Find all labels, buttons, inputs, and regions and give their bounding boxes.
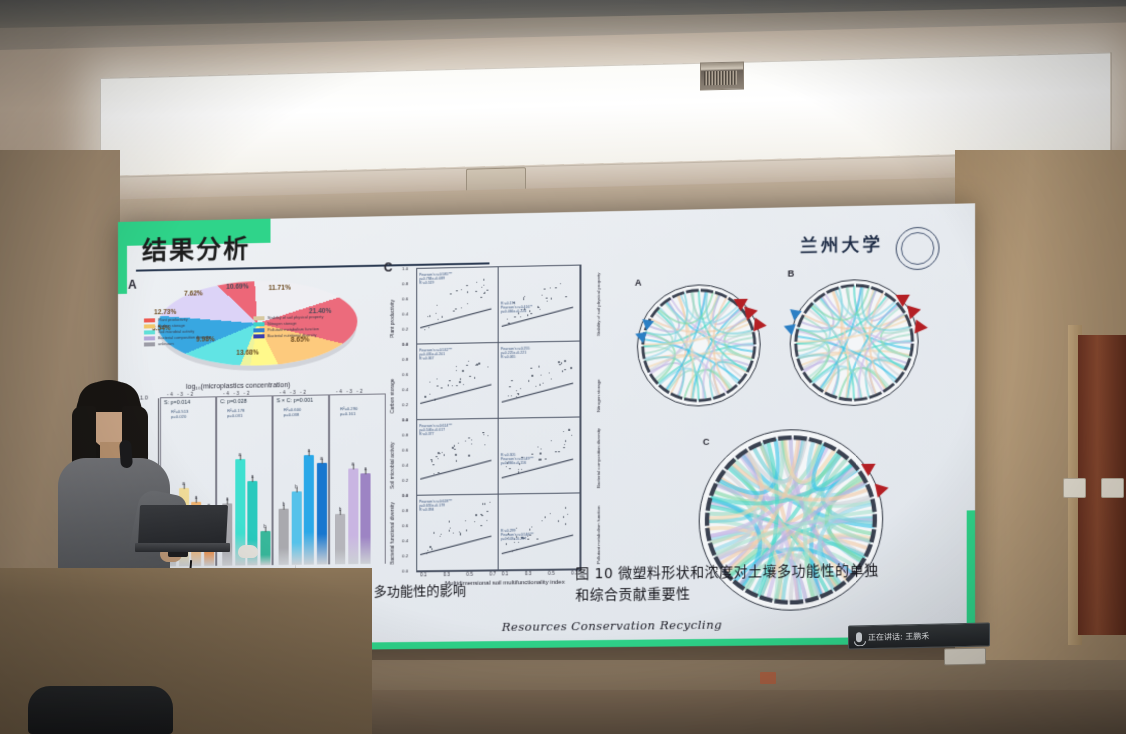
scatter-row-label-right: Bacterial composition diversity (596, 428, 601, 488)
scatter-point (530, 368, 531, 369)
significance-letter: b (339, 506, 342, 511)
scatter-point (571, 435, 572, 436)
scatter-x-tick: 0.3 (525, 571, 532, 576)
legend-item: Bacterial nutritional diversity (253, 332, 357, 340)
scatter-point (548, 372, 549, 373)
scatter-point (437, 385, 438, 386)
scatter-annotation: R²=0.305Pearson's r=0.549***y=0.866x+0.1… (501, 452, 534, 465)
scatter-point (469, 455, 470, 456)
scatter-point (540, 448, 541, 449)
scatter-point (455, 454, 456, 455)
scatter-point (509, 386, 510, 387)
scatter-point (538, 366, 539, 367)
chord-letter-a: A (635, 278, 642, 288)
scatter-point (456, 290, 457, 291)
scatter-point (466, 285, 467, 286)
scatter-point (437, 319, 438, 320)
scatter-y-tick: 0.6 (402, 447, 408, 452)
scatter-point (510, 395, 511, 396)
slide-accent-bar (118, 222, 127, 294)
scatter-point (454, 449, 455, 450)
scatter-point (467, 291, 468, 292)
scatter-point (431, 460, 432, 461)
bar-group: S × C: p=0.001R²=0.600p=0.038bbaa (273, 394, 330, 565)
scatter-point (557, 520, 558, 521)
speaking-status-bar: 正在讲话: 王鹏禾 (848, 623, 990, 650)
significance-letter: a (352, 461, 355, 466)
scatter-point (528, 380, 529, 381)
bar-group-stats: R²=0.178p=0.031 (227, 408, 244, 418)
scatter-point (436, 378, 437, 379)
scatter-y-tick: 0.2 (402, 477, 408, 482)
scatter-cell: Pearson's r=0.628***y=0.655x+0.179R²=0.3… (416, 494, 498, 572)
bar-chart-title: log₁₀(microplastics concentration) (186, 382, 290, 391)
bar-group-stats: R²=0.600p=0.038 (284, 407, 301, 417)
scatter-matrix: Multidimensional soil multifunctionality… (384, 252, 610, 609)
regression-line (502, 382, 574, 402)
scatter-y-tick: 0.8 (402, 432, 408, 437)
chord-letter-c: C (703, 437, 710, 447)
laptop-keyboard[interactable] (135, 543, 230, 552)
presentation-photo: 结果分析 A 11.71%21.40%8.65%13.68%9.98%3.54%… (0, 0, 1126, 734)
scatter-y-tick: 0.0 (402, 568, 408, 573)
scatter-point (565, 369, 566, 370)
scatter-point (518, 541, 519, 542)
scatter-point (466, 530, 467, 531)
scatter-point (551, 298, 552, 299)
scatter-y-tick: 1.0 (402, 341, 408, 346)
scatter-point (429, 394, 430, 395)
scatter-point (460, 378, 461, 379)
scatter-point (544, 516, 545, 517)
university-seal-icon (896, 227, 940, 271)
scatter-point (535, 386, 536, 387)
scatter-point (442, 316, 443, 317)
scatter-point (487, 289, 488, 290)
significance-letter: a (320, 456, 323, 461)
regression-line (420, 535, 491, 554)
legend-swatch (253, 328, 264, 333)
bar: a (348, 468, 358, 564)
scatter-row-label-left: Carbon storage (390, 379, 396, 414)
scatter-point (507, 395, 508, 396)
scatter-row-label-right: Pollutant metabolism function (596, 506, 601, 564)
chair (28, 686, 173, 734)
scatter-point (544, 288, 545, 289)
scatter-y-tick: 0.8 (402, 507, 408, 512)
scatter-point (436, 313, 437, 314)
pie-legend: Plant productivityStability of soil phys… (144, 313, 357, 347)
significance-letter: b (264, 524, 267, 529)
scatter-point (448, 384, 449, 385)
journal-name: Resources Conservation Recycling (502, 617, 722, 634)
scatter-point (565, 360, 566, 361)
scatter-point (509, 468, 510, 469)
legend-swatch (144, 342, 155, 347)
scatter-point (487, 511, 488, 512)
pie-slice-label: 12.73% (154, 309, 176, 316)
scatter-point (537, 306, 538, 307)
wall-outlet-1[interactable] (1063, 478, 1086, 498)
bar-group: R²=0.290p=0.161baa (329, 393, 386, 564)
scatter-point (462, 370, 463, 371)
scatter-cell: R²=0.299Pearson's r=0.546***y=0.543x+0.2… (498, 492, 581, 570)
scatter-point (425, 396, 426, 397)
scatter-y-tick: 1.0 (402, 417, 408, 422)
significance-letter: a (251, 474, 254, 479)
scatter-point (545, 458, 546, 459)
scatter-point (439, 453, 440, 454)
scatter-cell: R²=0.171Pearson's r=0.416**y=0.466x+0.22… (498, 265, 581, 343)
scatter-y-tick: 0.4 (402, 462, 408, 467)
caption-line-1: 图 10 微塑料形状和浓度对土壤多功能性的单独 (575, 561, 878, 586)
scatter-point (568, 429, 569, 430)
scatter-y-tick: 0.2 (402, 326, 408, 331)
legend-swatch (253, 316, 264, 321)
scatter-cell: Pearson's r=0.532***y=0.435x+0.201R²=0.3… (416, 342, 498, 420)
microphone-icon (856, 632, 862, 642)
bar-group-header: S × C: p=0.001 (277, 398, 314, 405)
scatter-row-label-left: Plant productivity (390, 299, 396, 337)
legend-swatch (144, 324, 155, 329)
bar-x-tick: -4 -3 -2 (223, 391, 251, 396)
scatter-point (540, 453, 541, 454)
bar: a (316, 463, 326, 564)
scatter-point (518, 394, 519, 395)
scatter-point (457, 385, 458, 386)
scatter-point (520, 316, 521, 317)
scatter-y-tick: 0.2 (402, 402, 408, 407)
scatter-point (427, 316, 428, 317)
scatter-point (567, 513, 568, 514)
scatter-point (477, 364, 478, 365)
scatter-x-tick: 0.3 (443, 572, 450, 577)
pie-slice-label: 11.71% (269, 285, 291, 292)
scatter-point (461, 289, 462, 290)
chord-c (699, 428, 883, 612)
scatter-point (565, 296, 566, 297)
scatter-y-tick: 0.6 (402, 523, 408, 528)
significance-letter: b (295, 485, 298, 490)
pie-slice-label: 10.69% (226, 283, 249, 290)
scatter-point (476, 282, 477, 283)
scatter-point (487, 366, 488, 367)
scatter-y-tick: 1.0 (402, 266, 408, 271)
scatter-point (565, 523, 566, 524)
scatter-point (486, 520, 487, 521)
scatter-point (459, 381, 460, 382)
scatter-point (489, 501, 490, 502)
bar: a (304, 455, 314, 565)
scatter-y-tick: 0.4 (402, 538, 408, 543)
scatter-point (558, 451, 559, 452)
scatter-cell: R²=0.305Pearson's r=0.549***y=0.866x+0.1… (498, 416, 581, 494)
legend-swatch (144, 336, 155, 341)
scatter-point (450, 293, 451, 294)
scatter-point (452, 385, 453, 386)
scatter-point (564, 444, 565, 445)
scatter-point (471, 439, 472, 440)
scatter-x-tick: 0.7 (489, 571, 496, 576)
scatter-point (481, 525, 482, 526)
scatter-point (437, 458, 438, 459)
scatter-point (558, 362, 559, 363)
ceiling-vent-grille (704, 71, 737, 86)
scatter-point (468, 361, 469, 362)
scatter-point (506, 543, 507, 544)
scatter-point (482, 515, 483, 516)
legend-swatch (144, 318, 155, 323)
legend-label: Bacterial nutritional diversity (268, 332, 317, 339)
university-name: 兰州大学 (800, 230, 883, 257)
scatter-y-tick: 0.6 (402, 371, 408, 376)
scatter-x-tick: 0.5 (548, 571, 555, 576)
scatter-point (428, 327, 429, 328)
scatter-point (455, 460, 456, 461)
scatter-point (441, 387, 442, 388)
scatter-point (455, 308, 456, 309)
control-panel-box[interactable] (944, 648, 986, 666)
slide-title: 结果分析 (142, 229, 250, 267)
scatter-point (483, 279, 484, 280)
scatter-point (482, 503, 483, 504)
panel-letter-a: A (128, 278, 137, 292)
scatter-point (449, 521, 450, 522)
scatter-point (540, 375, 541, 376)
scatter-point (562, 371, 563, 372)
scatter-point (479, 363, 480, 364)
scatter-point (514, 542, 515, 543)
scatter-x-tick: 0.5 (466, 572, 473, 577)
scatter-point (424, 329, 425, 330)
scatter-point (474, 521, 475, 522)
scatter-point (449, 380, 450, 381)
caption-left: 多功能性的影响 (374, 580, 466, 600)
scatter-point (474, 377, 475, 378)
bar-x-tick: -4 -3 -2 (336, 389, 364, 395)
pie-slice-label: 7.62% (184, 290, 203, 297)
significance-letter: a (308, 448, 311, 453)
scatter-point (453, 532, 454, 533)
regression-line (420, 459, 491, 478)
scatter-point (549, 287, 550, 288)
scatter-y-tick: 0.2 (402, 553, 408, 558)
scatter-row-label-left: Bacterial functional diversity (390, 502, 396, 565)
scatter-point (520, 388, 521, 389)
scatter-point (523, 298, 524, 299)
significance-letter: b (282, 502, 285, 507)
scatter-cell: Pearson's r=0.585***y=0.784x+0.089R²=0.5… (416, 266, 498, 344)
scatter-point (527, 314, 528, 315)
scatter-point (427, 550, 428, 551)
scatter-point (543, 383, 544, 384)
scatter-point (550, 440, 551, 441)
scatter-point (483, 285, 484, 286)
scatter-point (547, 300, 548, 301)
scatter-point (560, 283, 561, 284)
scatter-point (559, 364, 560, 365)
scatter-point (483, 293, 484, 294)
scatter-point (469, 437, 470, 438)
scatter-point (555, 287, 556, 288)
scatter-y-tick: 0.6 (402, 296, 408, 301)
scatter-point (429, 316, 430, 317)
scatter-point (476, 514, 477, 515)
legend-swatch (144, 330, 155, 335)
scatter-point (465, 520, 466, 521)
scatter-point (429, 381, 430, 382)
bar-group-header: C: p=0.028 (220, 399, 247, 405)
scatter-point (563, 430, 564, 431)
bar: a (360, 474, 370, 564)
significance-letter: a (364, 467, 367, 472)
legend-swatch (253, 322, 264, 327)
scatter-point (443, 454, 444, 455)
scatter-point (456, 370, 457, 371)
scatter-point (541, 520, 542, 521)
scatter-annotation: Pearson's r=0.585***y=0.784x+0.089R²=0.5… (419, 272, 452, 285)
scatter-point (460, 533, 461, 534)
scatter-point (467, 303, 468, 304)
scatter-point (469, 376, 470, 377)
scatter-y-tick: 0.4 (402, 311, 408, 316)
scatter-cell: Pearson's r=0.614***y=0.546x+0.017R²=0.3… (416, 418, 498, 496)
scatter-annotation: R²=0.299Pearson's r=0.546***y=0.543x+0.2… (501, 528, 534, 541)
scatter-point (471, 443, 472, 444)
scatter-point (441, 452, 442, 453)
scatter-point (465, 440, 466, 441)
regression-line (420, 308, 491, 328)
scatter-point (453, 310, 454, 311)
scatter-point (511, 380, 512, 381)
scatter-row-label-left: Soil microbial activity (390, 442, 396, 489)
scatter-point (563, 516, 564, 517)
bar-group-stats: R²=0.290p=0.161 (340, 406, 358, 416)
scatter-point (450, 527, 451, 528)
scatter-point (531, 375, 532, 376)
scatter-point (484, 444, 485, 445)
scatter-point (506, 466, 507, 467)
legend-swatch (253, 334, 264, 339)
chord-letter-b: B (788, 268, 795, 278)
scatter-point (571, 367, 572, 368)
scatter-annotation: Pearson's r=0.628***y=0.655x+0.179R²=0.3… (419, 499, 452, 512)
scatter-point (537, 539, 538, 540)
scatter-point (433, 464, 434, 465)
scatter-point (521, 469, 522, 470)
significance-letter: a (239, 452, 242, 457)
bar-x-tick: -4 -3 -2 (280, 390, 308, 395)
scatter-point (550, 513, 551, 514)
speaking-status-label: 正在讲话: 王鹏禾 (868, 630, 929, 642)
scatter-point (539, 384, 540, 385)
scatter-x-tick: 0.1 (420, 572, 426, 577)
wall-outlet-2[interactable] (1101, 478, 1124, 498)
scatter-row-label-right: Stability of soil physical property (596, 273, 601, 336)
scatter-point (516, 390, 517, 391)
scatter-point (466, 364, 467, 365)
scatter-point (463, 384, 464, 385)
scatter-point (542, 294, 543, 295)
scatter-point (538, 447, 539, 448)
scatter-point (439, 535, 440, 536)
scatter-annotation: R²=0.171Pearson's r=0.416**y=0.466x+0.22… (501, 300, 533, 313)
bar: b (335, 513, 345, 564)
scatter-y-tick: 0.8 (402, 356, 408, 361)
scatter-point (441, 533, 442, 534)
scatter-point (546, 298, 547, 299)
scatter-point (431, 548, 432, 549)
scatter-cell: Pearson's r=0.255y=0.225x+0.221R²=0.065 (498, 341, 581, 419)
microphone-head (119, 440, 133, 469)
scatter-point (563, 447, 564, 448)
scatter-point (461, 307, 462, 308)
scatter-point (487, 435, 488, 436)
scatter-annotation: Pearson's r=0.532***y=0.435x+0.201R²=0.3… (419, 348, 452, 361)
scatter-point (452, 447, 453, 448)
scatter-point (565, 507, 566, 508)
scatter-point (555, 451, 556, 452)
scatter-point (434, 532, 435, 533)
scatter-annotation: Pearson's r=0.614***y=0.546x+0.017R²=0.3… (419, 424, 452, 437)
scatter-point (514, 316, 515, 317)
scatter-point (483, 432, 484, 433)
scatter-row-label-right: Nitrogen storage (596, 379, 601, 412)
legend-label: unknown (158, 341, 174, 347)
caption-line-2: 和综合贡献重要性 (575, 584, 690, 607)
scatter-point (507, 318, 508, 319)
regression-line (420, 384, 491, 404)
laptop[interactable] (135, 505, 230, 553)
scatter-point (539, 308, 540, 309)
scatter-point (483, 434, 484, 435)
scatter-annotation: Pearson's r=0.255y=0.225x+0.221R²=0.065 (501, 347, 530, 360)
scatter-y-tick: 0.4 (402, 387, 408, 392)
scatter-point (436, 305, 437, 306)
scatter-x-tick: 0.1 (502, 571, 509, 576)
pie-slice-label: 13.68% (236, 349, 259, 356)
scatter-point (524, 296, 525, 297)
scatter-point (448, 530, 449, 531)
scatter-point (565, 440, 566, 441)
chord-diagrams: 兰州大学 A B C (618, 232, 973, 604)
scatter-point (457, 442, 458, 443)
scatter-point (475, 291, 476, 292)
scatter-point (456, 366, 457, 367)
scatter-point (484, 503, 485, 504)
scatter-point (551, 379, 552, 380)
laptop-screen (138, 505, 228, 545)
scatter-point (540, 459, 541, 460)
scatter-point (481, 297, 482, 298)
scatter-y-tick: 1.0 (402, 492, 408, 497)
scatter-point (454, 445, 455, 446)
scatter-point (481, 286, 482, 287)
significance-letter: a (226, 497, 229, 502)
floor-marker (760, 672, 776, 684)
scatter-y-tick: 0.8 (402, 281, 408, 286)
scatter-point (561, 362, 562, 363)
